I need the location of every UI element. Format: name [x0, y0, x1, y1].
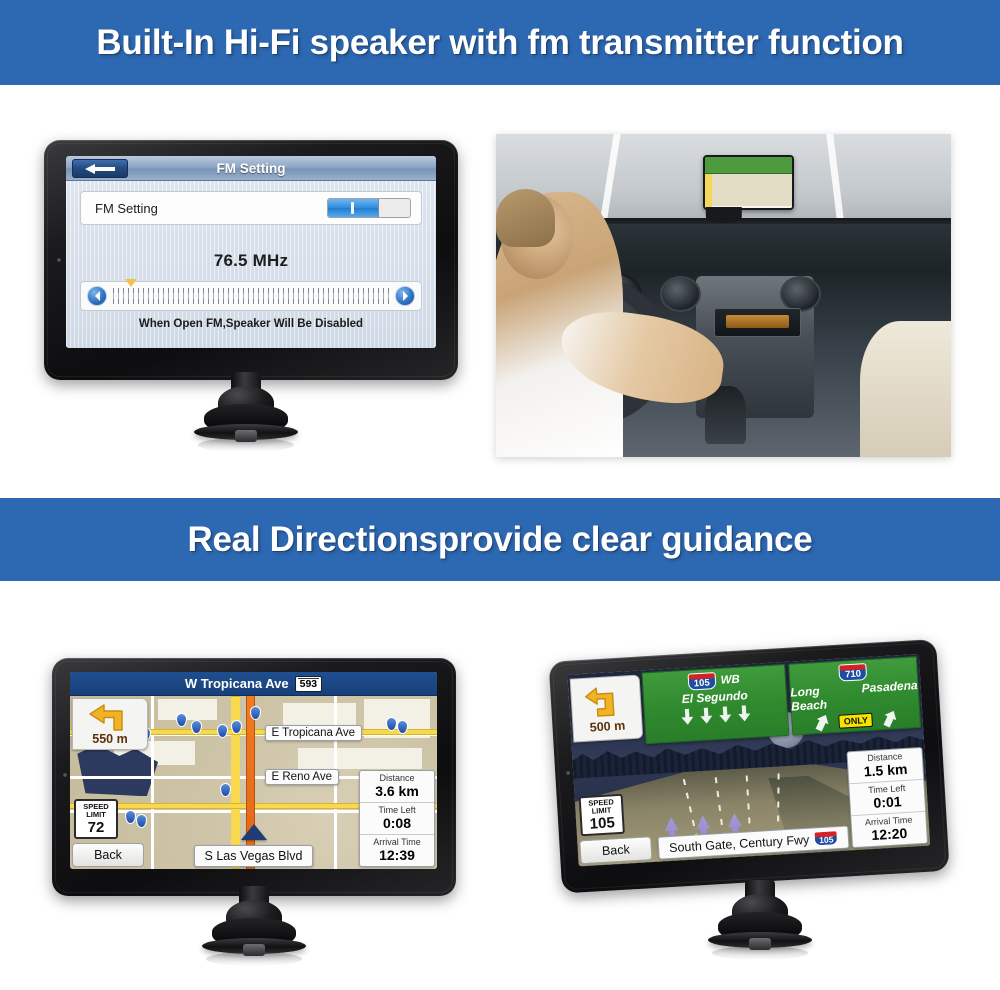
fm-setting-label: FM Setting: [95, 201, 158, 216]
fm-frequency-value: 76.5 MHz: [80, 251, 422, 271]
frequency-decrease-button[interactable]: [87, 286, 107, 306]
map-street-label: E Tropicana Ave: [265, 725, 363, 741]
current-street-bar: W Tropicana Ave 593: [70, 672, 437, 696]
trip-info-time-left-value: 0:01: [850, 793, 925, 812]
map-street-label: E Reno Ave: [265, 769, 340, 785]
trip-info-arrival-value: 12:39: [360, 848, 434, 863]
sign-city: El Segundo: [681, 688, 748, 706]
exit-lane-arrows: ONLY: [814, 709, 897, 731]
mount-reflection: [712, 946, 808, 960]
map-building: [158, 699, 217, 720]
air-vent-right: [780, 276, 821, 312]
trip-info-distance: Distance 3.6 km: [360, 771, 434, 803]
sign-shield-row: 105 WB: [687, 671, 740, 691]
city-nav-screen: W Tropicana Ave 593: [70, 672, 437, 869]
turn-left-arrow-icon: [88, 703, 132, 731]
speed-limit-label-2: LIMIT: [86, 811, 106, 819]
mini-gps-sign-bar: [705, 157, 792, 174]
turn-instruction-card: 500 m: [570, 675, 644, 743]
back-button[interactable]: Back: [579, 836, 652, 864]
map-poi-pin-icon: [397, 720, 408, 734]
lane-arrow-down-icon: [738, 705, 751, 722]
route-shield-badge: 593: [295, 676, 323, 692]
back-button[interactable]: [72, 159, 128, 178]
fm-title: FM Setting: [217, 161, 286, 176]
city-nav-map-view: W Tropicana Ave 593: [70, 672, 437, 869]
fm-toggle-on-fill: [328, 199, 379, 217]
trip-info-time-left-value: 0:08: [360, 816, 434, 831]
lane-arrow-up-right-icon: [812, 712, 832, 733]
air-vent-left: [660, 276, 701, 312]
passenger-seat: [860, 321, 951, 457]
exit-right-arrow-icon: [582, 683, 630, 720]
suction-cup-mount: [176, 372, 316, 456]
middle-banner: Real Directionsprovide clear guidance: [0, 498, 1000, 581]
car-interior-photo: [496, 134, 951, 457]
product-feature-image: Built-In Hi-Fi speaker with fm transmitt…: [0, 0, 1000, 990]
highway-sign-through: 105 WB El Segundo: [641, 664, 789, 744]
fm-frequency-slider[interactable]: [80, 281, 422, 311]
interstate-shield-icon: 710: [839, 663, 868, 682]
trip-info-distance: Distance 1.5 km: [847, 748, 923, 784]
trip-info-panel[interactable]: Distance 1.5 km Time Left 0:01 Arrival T…: [846, 747, 928, 848]
frequency-marker-icon: [125, 279, 137, 287]
speed-limit-sign: SPEED LIMIT 72: [74, 799, 118, 839]
mini-gps-map: [705, 174, 792, 208]
map-poi-pin-icon: [220, 783, 231, 797]
fm-screen: FM Setting FM Setting 76.5 MHz: [66, 156, 436, 348]
interstate-shield-icon: 105: [814, 830, 839, 846]
fm-body: FM Setting 76.5 MHz: [66, 181, 436, 348]
map-poi-pin-icon: [386, 717, 397, 731]
highway-nav-screen: 105 WB El Segundo 710: [567, 654, 930, 867]
trip-info-distance-value: 1.5 km: [848, 761, 923, 780]
map-poi-pin-icon: [217, 724, 228, 738]
mount-reflection: [206, 952, 302, 966]
speed-limit-value: 72: [88, 819, 105, 836]
trip-info-time-left: Time Left 0:08: [360, 803, 434, 835]
highway-sign-exit: 710 Long Beach Pasadena ONLY: [788, 656, 922, 736]
destination-street-label: S Las Vegas Blvd: [194, 845, 314, 867]
trip-info-time-left: Time Left 0:01: [849, 780, 925, 816]
trip-info-panel[interactable]: Distance 3.6 km Time Left 0:08 Arrival T…: [359, 770, 435, 867]
trip-info-arrival: Arrival Time 12:39: [360, 835, 434, 866]
destination-street-name: S Las Vegas Blvd: [205, 849, 303, 863]
trip-info-arrival: Arrival Time 12:20: [851, 812, 927, 847]
fm-title-bar: FM Setting: [66, 156, 436, 181]
chevron-left-icon: [93, 291, 102, 301]
frequency-increase-button[interactable]: [395, 286, 415, 306]
sign-city-list: Long Beach Pasadena: [790, 677, 919, 714]
turn-distance: 550 m: [92, 732, 127, 746]
mini-gps-screen: [705, 157, 792, 208]
back-arrow-icon: [83, 163, 117, 175]
trip-info-distance-value: 3.6 km: [360, 784, 434, 799]
only-badge: ONLY: [838, 712, 873, 728]
trip-info-arrival-value: 12:20: [852, 825, 927, 844]
middle-banner-text: Real Directionsprovide clear guidance: [188, 520, 813, 560]
chevron-right-icon: [401, 291, 410, 301]
sign-city: Long Beach: [790, 682, 855, 714]
vehicle-position-marker-icon: [241, 824, 267, 840]
map-poi-pin-icon: [250, 706, 261, 720]
map-road: [151, 696, 154, 869]
suction-cup-mount: [690, 880, 830, 970]
lane-arrow-up-right-icon: [880, 708, 900, 729]
mount-reflection: [198, 438, 294, 452]
turn-distance: 500 m: [589, 718, 625, 734]
highway-nav-view: 105 WB El Segundo 710: [567, 654, 930, 867]
map-building: [298, 748, 423, 769]
map-poi-pin-icon: [176, 713, 187, 727]
sign-direction: WB: [720, 673, 740, 686]
suction-cup-mount: [184, 886, 324, 972]
gps-device-highway-navigation: 105 WB El Segundo 710: [549, 639, 950, 894]
car-stereo-display: [726, 315, 790, 328]
top-banner: Built-In Hi-Fi speaker with fm transmitt…: [0, 0, 1000, 85]
driver-hair: [496, 189, 555, 247]
speed-limit-sign: SPEED LIMIT 105: [579, 794, 625, 837]
fm-note-text: When Open FM,Speaker Will Be Disabled: [80, 318, 422, 330]
active-route-line: [246, 696, 255, 869]
current-street-name: W Tropicana Ave: [185, 676, 289, 691]
power-led-icon: [63, 773, 67, 777]
top-banner-text: Built-In Hi-Fi speaker with fm transmitt…: [96, 23, 903, 63]
dashboard-mounted-gps-unit: [703, 155, 794, 210]
lane-arrow-down-icon: [700, 707, 713, 724]
fm-setting-row[interactable]: FM Setting: [80, 191, 422, 225]
map-poi-pin-icon: [125, 810, 136, 824]
through-lane-arrows: [681, 705, 751, 725]
interstate-shield-icon: 105: [687, 672, 716, 691]
sign-city: Pasadena: [861, 678, 919, 709]
fm-toggle-knob: [351, 202, 354, 214]
back-button[interactable]: Back: [72, 843, 144, 867]
turn-instruction-card: 550 m: [72, 698, 148, 750]
speed-limit-value: 105: [589, 814, 615, 832]
gps-device-city-navigation: W Tropicana Ave 593: [52, 658, 456, 896]
lane-arrow-down-icon: [719, 706, 732, 723]
lane-arrow-down-icon: [681, 708, 694, 725]
mini-gps-mount: [705, 207, 741, 223]
destination-street-name: South Gate, Century Fwy: [669, 832, 810, 854]
gps-device-fm-setting: FM Setting FM Setting 76.5 MHz: [44, 140, 458, 380]
power-led-icon: [57, 258, 61, 262]
frequency-tick-marks: [113, 288, 389, 304]
map-poi-pin-icon: [136, 814, 147, 828]
fm-toggle-switch[interactable]: [327, 198, 411, 218]
